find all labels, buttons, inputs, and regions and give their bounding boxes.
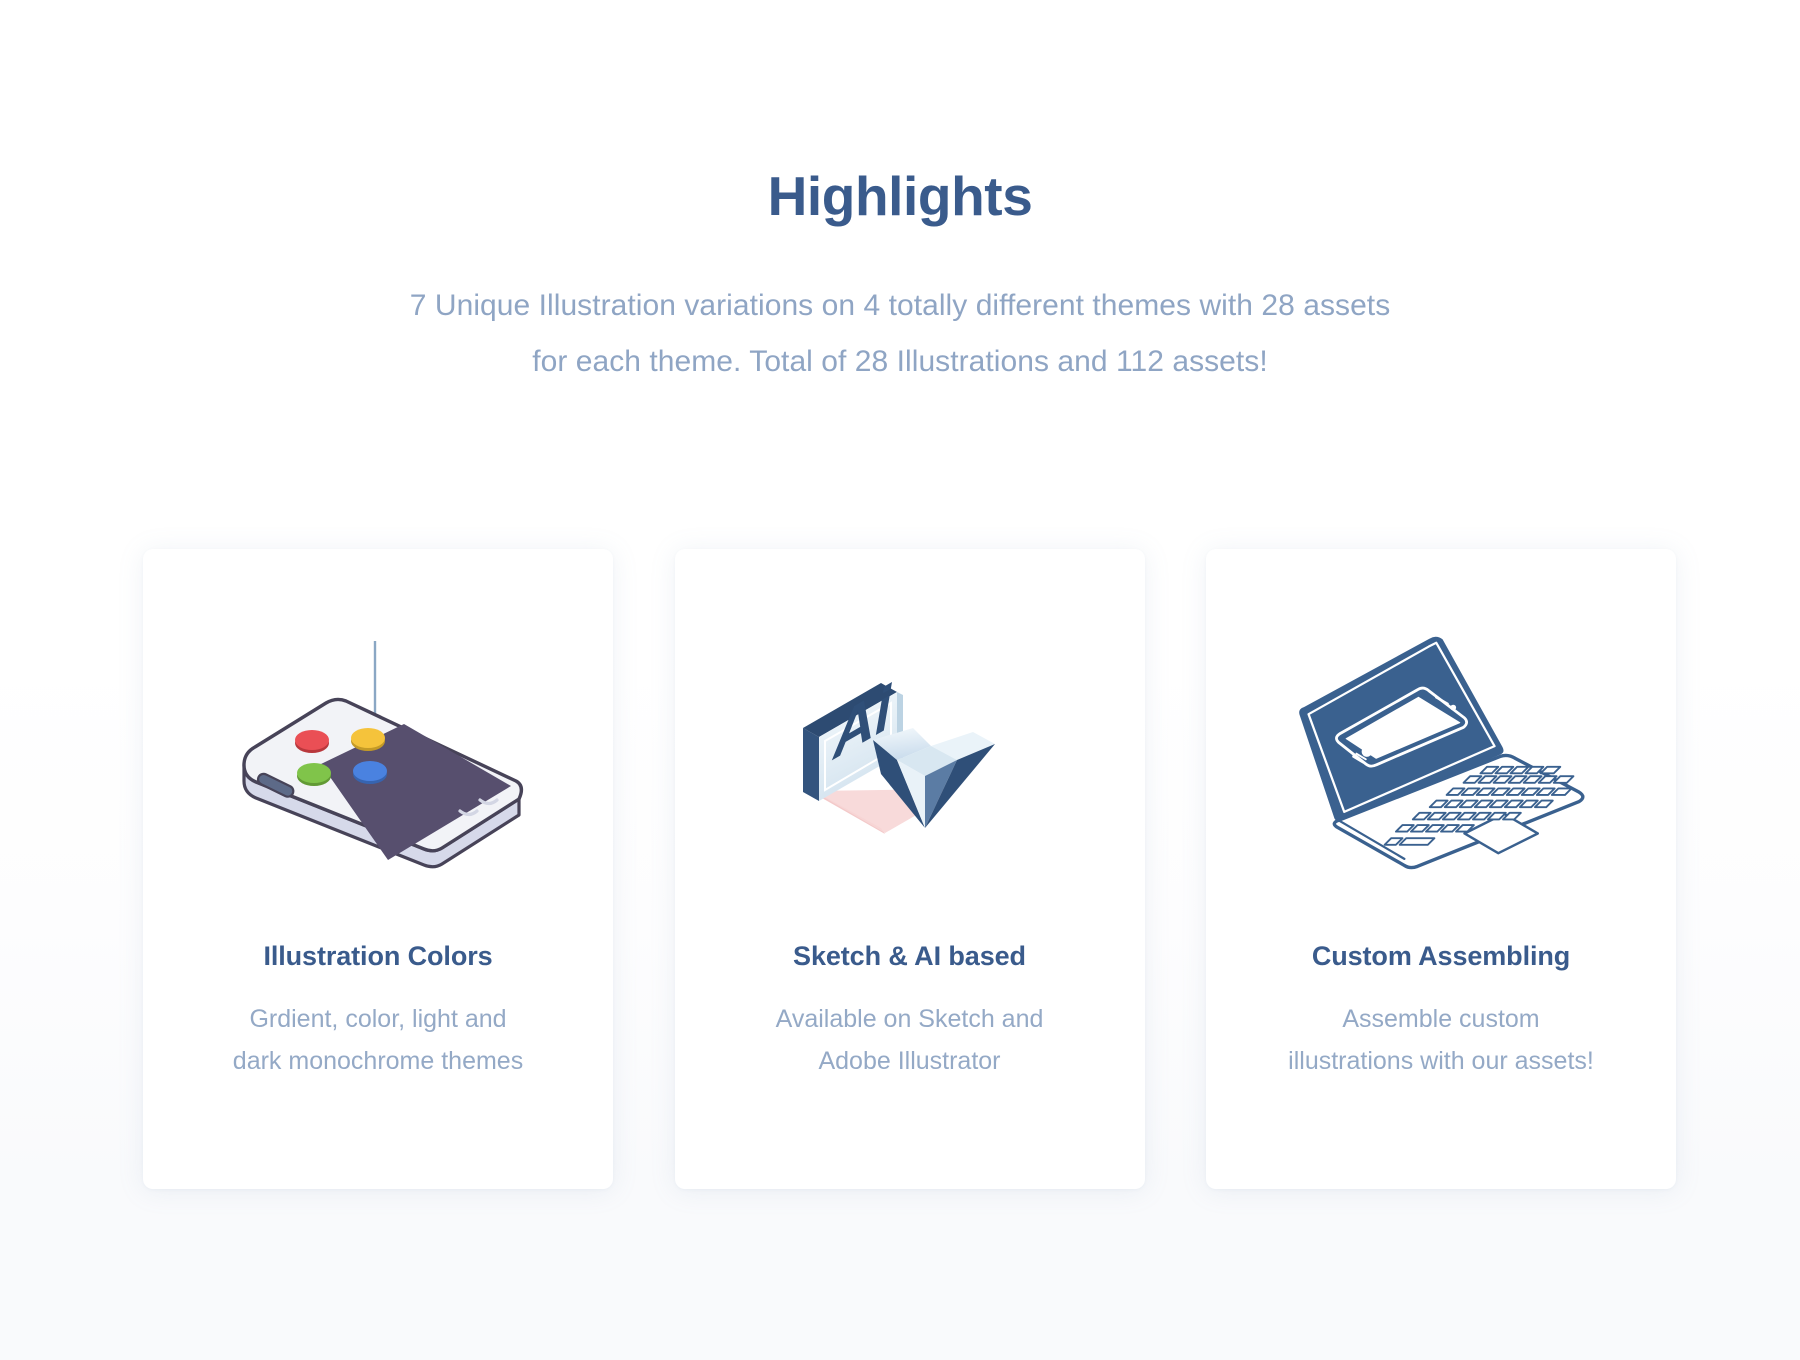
page-subtitle-line-1: 7 Unique Illustration variations on 4 to… [0,278,1800,334]
card-text-line: Available on Sketch and [776,998,1044,1040]
adobe-illustrator-ai-icon: Ai [785,628,1035,868]
card-text-line: illustrations with our assets! [1288,1040,1594,1082]
isometric-laptop-with-phone-icon [1286,623,1596,873]
card-text-line: Assemble custom [1288,998,1594,1040]
card-custom-assembling[interactable]: Custom Assembling Assemble custom illust… [1206,549,1676,1189]
card-art-sketch-ai-based: Ai [675,549,1145,941]
heading-section: Highlights 7 Unique Illustration variati… [0,168,1800,391]
card-art-illustration-colors [143,549,613,941]
card-title-custom-assembling: Custom Assembling [1312,941,1570,972]
page-subtitle: 7 Unique Illustration variations on 4 to… [0,278,1800,391]
card-sketch-ai-based[interactable]: Ai [675,549,1145,1189]
card-art-custom-assembling [1206,549,1676,941]
page-title: Highlights [0,168,1800,226]
card-title-sketch-ai-based: Sketch & AI based [793,941,1026,972]
card-title-illustration-colors: Illustration Colors [263,941,492,972]
card-text-line: dark monochrome themes [233,1040,523,1082]
isometric-smartphone-color-icon [228,633,528,863]
card-text-line: Grdient, color, light and [233,998,523,1040]
card-text-illustration-colors: Grdient, color, light and dark monochrom… [207,998,549,1082]
card-text-sketch-ai-based: Available on Sketch and Adobe Illustrato… [750,998,1070,1082]
highlight-cards: Illustration Colors Grdient, color, ligh… [143,549,1676,1189]
card-text-custom-assembling: Assemble custom illustrations with our a… [1262,998,1620,1082]
page-subtitle-line-2: for each theme. Total of 28 Illustration… [0,334,1800,390]
highlights-page: Highlights 7 Unique Illustration variati… [0,0,1800,1360]
card-illustration-colors[interactable]: Illustration Colors Grdient, color, ligh… [143,549,613,1189]
card-text-line: Adobe Illustrator [776,1040,1044,1082]
